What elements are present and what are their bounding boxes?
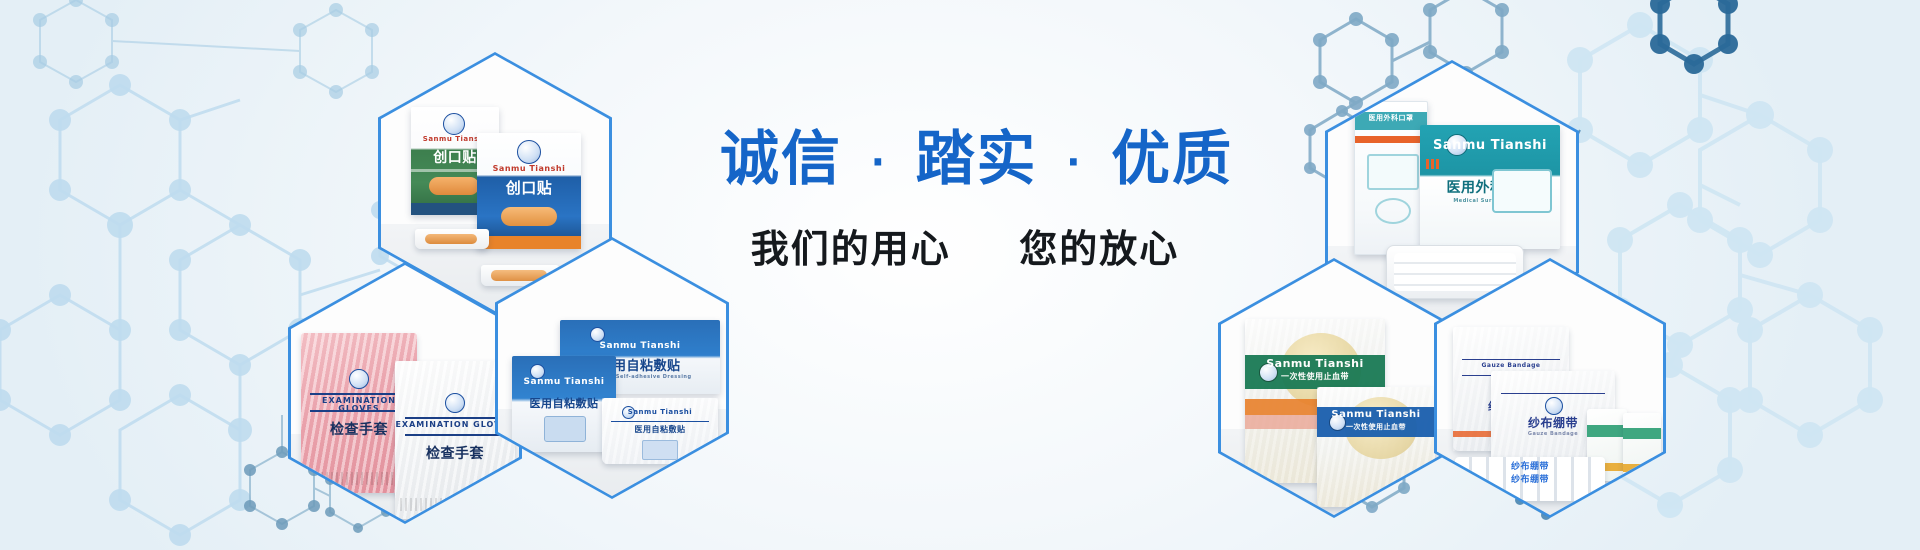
dressing-pad-graphic (642, 440, 678, 460)
dressing-brand: Sanmu Tianshi (512, 378, 616, 387)
roll-label-cn: 纱布绷带 (1455, 463, 1605, 472)
banner-subline: 我们的用心 您的放心 (720, 218, 1210, 273)
roll-label-cn: 纱布绷带 (1455, 476, 1605, 485)
label-green-band: Sanmu Tianshi 一次性使用止血带 (1245, 355, 1385, 389)
bag-seal (400, 498, 510, 511)
brand-emblem (349, 369, 369, 389)
mask-carton-white: 医用外科口罩 (1354, 101, 1428, 255)
glove-name-cn: 检查手套 (395, 447, 515, 461)
pouch-name-cn: 医用自粘敷贴 (602, 426, 718, 434)
headline-part-3: 优质 (1111, 124, 1233, 193)
dressing-box-small: Sanmu Tianshi 医用自粘敷贴 (512, 356, 616, 452)
box-name-cn: 创口贴 (477, 181, 581, 196)
pouch-brand: Sanmu Tianshi (602, 409, 718, 416)
label-blue-band: Sanmu Tianshi 一次性使用止血带 (1317, 407, 1435, 437)
mask-brand: Sanmu Tianshi (1420, 139, 1560, 152)
small-pack-band (1623, 464, 1661, 472)
dressing-brand: Sanmu Tianshi (560, 342, 720, 351)
brand-rule (611, 421, 708, 422)
tourniquet-brand: Sanmu Tianshi (1317, 410, 1435, 420)
mask-graphic (1367, 154, 1419, 190)
brand-rule (405, 417, 506, 419)
brand-rule (310, 393, 407, 395)
mask-box-teal: Sanmu Tianshi 医用外科口罩 Medical Surgical Ma… (1420, 125, 1560, 249)
small-pack-band (1587, 425, 1627, 437)
dressing-pad-graphic (544, 416, 586, 442)
sachet-strip (425, 234, 477, 244)
bandage-sachet (415, 229, 489, 249)
mask-name-cn: 医用外科口罩 (1355, 115, 1427, 122)
box-brand-text: Sanmu Tianshi (477, 165, 581, 173)
brand-emblem (1545, 397, 1563, 415)
brand-rule (405, 434, 506, 436)
brand-emblem (590, 327, 605, 342)
headline-separator: · (865, 140, 893, 184)
gauze-small-pack (1623, 413, 1661, 481)
gauze-rolls-row: 纱布绷带 纱布绷带 (1455, 457, 1605, 501)
banner-text-block: 诚信 · 踏实 · 优质 我们的用心 您的放心 (720, 128, 1210, 273)
carton-accent-band (1355, 136, 1427, 143)
mask-graphic (1492, 169, 1552, 213)
small-pack-band (1623, 428, 1661, 439)
bandage-box-blue: Sanmu Tianshi 创口贴 (477, 133, 581, 249)
bandage-graphic (501, 207, 557, 226)
tourniquet-brand: Sanmu Tianshi (1245, 358, 1385, 369)
brand-emblem (517, 140, 541, 164)
subline-right: 您的放心 (1019, 227, 1179, 271)
tourniquet-name-cn: 一次性使用止血带 (1317, 424, 1435, 431)
tourniquet-name-cn: 一次性使用止血带 (1245, 373, 1385, 381)
dressing-name-cn: 医用自粘敷贴 (512, 398, 616, 409)
brand-emblem (443, 113, 465, 135)
mask-pleats (1394, 253, 1516, 291)
ear-loop-graphic (1375, 198, 1411, 224)
bandage-graphic (429, 177, 479, 195)
box-footer-band (477, 236, 581, 249)
brand-rule (310, 410, 407, 412)
accent-stripes (1426, 159, 1440, 169)
headline-part-2: 踏实 (916, 124, 1038, 193)
headline-part-1: 诚信 (720, 124, 842, 193)
gauze-name-en: Gauze Bandage (1453, 363, 1569, 369)
dressing-sterile-pouch: Sanmu Tianshi 医用自粘敷贴 (602, 398, 718, 464)
headline-separator: · (1060, 140, 1088, 184)
brand-rule (1462, 359, 1559, 360)
subline-left: 我们的用心 (751, 227, 951, 271)
tourniquet-bag-front: Sanmu Tianshi 一次性使用止血带 (1317, 387, 1435, 507)
brand-rule (1501, 393, 1605, 394)
brand-emblem (445, 393, 465, 413)
banner-headline: 诚信 · 踏实 · 优质 (720, 128, 1210, 190)
promo-banner: Sanmu Tianshi 创口贴 Sanmu Tianshi 创口贴 (0, 0, 1920, 550)
